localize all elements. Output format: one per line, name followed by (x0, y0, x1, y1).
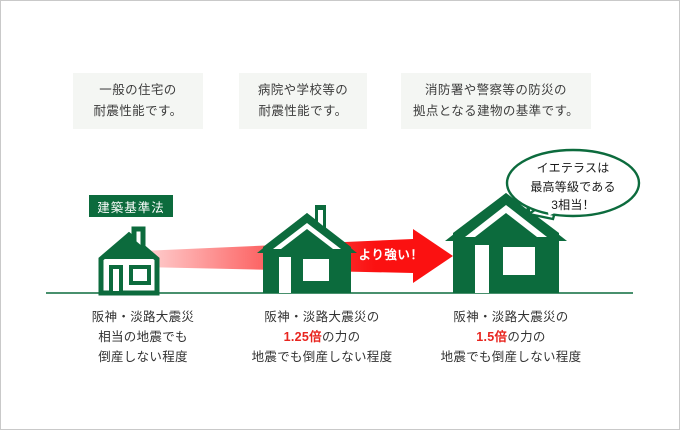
caption-highlight: 1.5倍 (476, 330, 507, 344)
caption-line-2: 1.5倍の力の (413, 327, 609, 347)
caption-line-2-text: の力の (507, 330, 545, 344)
caption-line-3: 地震でも倒産しない程度 (229, 347, 415, 367)
caption-line-1: 阪神・淡路大震災の (413, 307, 609, 327)
caption-line-2: 1.25倍の力の (229, 327, 415, 347)
arrow-label: より強い！ (349, 244, 433, 263)
speech-bubble-label: イエテラスは 最高等級である 3相当！ (507, 159, 639, 215)
caption-line-3: 地震でも倒産しない程度 (413, 347, 609, 367)
house-medium (257, 205, 357, 293)
caption-level-3: 阪神・淡路大震災の 1.5倍の力の 地震でも倒産しない程度 (413, 307, 609, 367)
caption-line-2: 相当の地震でも (53, 327, 233, 347)
caption-line-1: 阪神・淡路大震災の (229, 307, 415, 327)
caption-line-2-text: の力の (322, 330, 360, 344)
caption-highlight: 1.25倍 (284, 330, 322, 344)
infographic-canvas: 一般の住宅の 耐震性能です。 病院や学校等の 耐震性能です。 消防署や警察等の防… (0, 0, 680, 430)
house-small (101, 229, 157, 293)
caption-line-3: 倒産しない程度 (53, 347, 233, 367)
caption-line-2-text: 相当の地震でも (98, 330, 188, 344)
caption-line-1: 阪神・淡路大震災 (53, 307, 233, 327)
caption-level-2: 阪神・淡路大震災の 1.25倍の力の 地震でも倒産しない程度 (229, 307, 415, 367)
caption-level-1: 阪神・淡路大震災 相当の地震でも 倒産しない程度 (53, 307, 233, 367)
